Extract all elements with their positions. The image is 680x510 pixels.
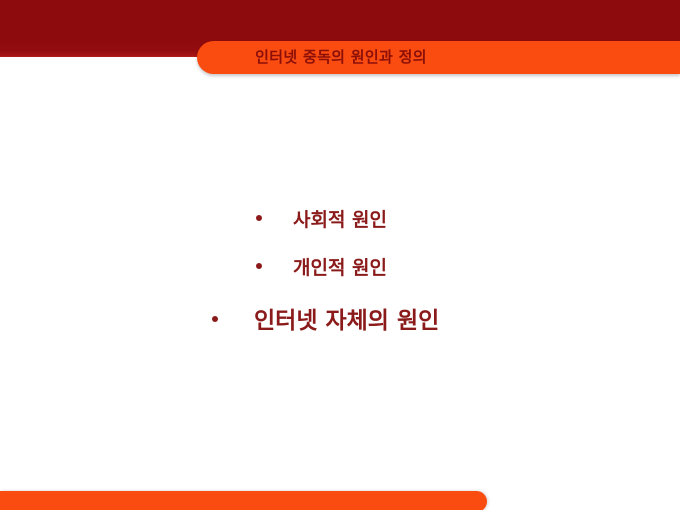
list-item: 인터넷 자체의 원인 — [0, 301, 680, 349]
list-item: 개인적 원인 — [0, 253, 680, 301]
bullet-item-label: 개인적 원인 — [293, 253, 387, 280]
bullet-item-label: 인터넷 자체의 원인 — [254, 301, 439, 335]
bullet-item-label: 사회적 원인 — [293, 205, 387, 232]
bullet-dot-icon — [256, 215, 262, 221]
list-item: 사회적 원인 — [0, 205, 680, 253]
bottom-decorative-bar — [0, 491, 487, 510]
slide-title-bar: 인터넷 중독의 원인과 정의 — [197, 41, 680, 74]
presentation-slide: 인터넷 중독의 원인과 정의 사회적 원인 개인적 원인 인터넷 자체의 원인 — [0, 0, 680, 510]
slide-title: 인터넷 중독의 원인과 정의 — [255, 50, 427, 65]
bullet-list: 사회적 원인 개인적 원인 인터넷 자체의 원인 — [0, 205, 680, 349]
bullet-dot-icon — [256, 263, 262, 269]
bullet-dot-icon — [212, 316, 218, 322]
